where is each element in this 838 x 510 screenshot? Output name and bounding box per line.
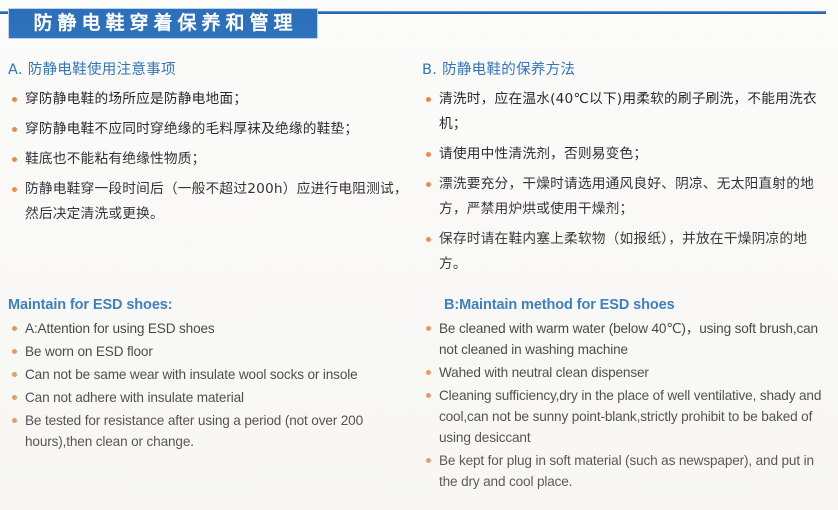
chinese-list-b: 清洗时，应在温水(40℃以下)用柔软的刷子刷洗，不能用洗衣机； 请使用中性清洗剂… [422, 87, 826, 277]
list-item: A:Attention for using ESD shoes [8, 318, 412, 339]
list-item-text: 保存时请在鞋内塞上柔软物（如报纸），并放在干燥阴凉的地方。 [439, 227, 826, 277]
page-header: 防静电鞋穿着保养和管理 [0, 0, 838, 50]
chinese-heading-b: B. 防静电鞋的保养方法 [422, 60, 826, 80]
list-item: 防静电鞋穿一段时间后（一般不超过200h）应进行电阻测试，然后决定清洗或更换。 [8, 177, 412, 227]
list-item: Can not adhere with insulate material [8, 387, 412, 408]
list-item-text: 鞋底也不能粘有绝缘性物质； [25, 147, 412, 172]
list-item: Be worn on ESD floor [8, 341, 412, 362]
list-item: 穿防静电鞋的场所应是防静电地面； [8, 87, 412, 112]
list-item: 清洗时，应在温水(40℃以下)用柔软的刷子刷洗，不能用洗衣机； [422, 87, 826, 137]
english-heading-a: Maintain for ESD shoes: [8, 295, 412, 315]
list-item: Be kept for plug in soft material (such … [422, 450, 826, 492]
title-banner: 防静电鞋穿着保养和管理 [8, 8, 318, 39]
page-title: 防静电鞋穿着保养和管理 [28, 14, 297, 33]
list-item-text: Be tested for resistance after using a p… [25, 410, 412, 452]
list-item: 穿防静电鞋不应同时穿绝缘的毛料厚袜及绝缘的鞋垫； [8, 117, 412, 142]
list-item: Be cleaned with warm water (below 40℃)，u… [422, 318, 826, 360]
list-item: Can not be same wear with insulate wool … [8, 364, 412, 385]
list-item-text: Can not adhere with insulate material [25, 387, 412, 408]
english-section-b: B:Maintain method for ESD shoes Be clean… [422, 295, 826, 494]
list-item-text: 穿防静电鞋不应同时穿绝缘的毛料厚袜及绝缘的鞋垫； [25, 117, 412, 142]
english-section-a: Maintain for ESD shoes: A:Attention for … [8, 295, 412, 454]
english-list-b: Be cleaned with warm water (below 40℃)，u… [422, 318, 826, 492]
list-item: 漂洗要充分，干燥时请选用通风良好、阴凉、无太阳直射的地方，严禁用炉烘或使用干燥剂… [422, 172, 826, 222]
list-item: 鞋底也不能粘有绝缘性物质； [8, 147, 412, 172]
list-item: Be tested for resistance after using a p… [8, 410, 412, 452]
list-item-text: 请使用中性清洗剂，否则易变色； [439, 142, 826, 167]
chinese-section-b: B. 防静电鞋的保养方法 清洗时，应在温水(40℃以下)用柔软的刷子刷洗，不能用… [422, 60, 826, 282]
list-item-text: Can not be same wear with insulate wool … [25, 364, 412, 385]
chinese-list-a: 穿防静电鞋的场所应是防静电地面； 穿防静电鞋不应同时穿绝缘的毛料厚袜及绝缘的鞋垫… [8, 87, 412, 227]
list-item: 请使用中性清洗剂，否则易变色； [422, 142, 826, 167]
list-item-text: Be kept for plug in soft material (such … [439, 450, 826, 492]
list-item-text: A:Attention for using ESD shoes [25, 318, 412, 339]
list-item-text: Wahed with neutral clean dispenser [439, 362, 826, 383]
list-item-text: 穿防静电鞋的场所应是防静电地面； [25, 87, 412, 112]
list-item-text: 清洗时，应在温水(40℃以下)用柔软的刷子刷洗，不能用洗衣机； [439, 87, 826, 137]
list-item: Cleaning sufficiency,dry in the place of… [422, 385, 826, 448]
list-item-text: 漂洗要充分，干燥时请选用通风良好、阴凉、无太阳直射的地方，严禁用炉烘或使用干燥剂… [439, 172, 826, 222]
list-item: 保存时请在鞋内塞上柔软物（如报纸），并放在干燥阴凉的地方。 [422, 227, 826, 277]
list-item-text: Be worn on ESD floor [25, 341, 412, 362]
list-item-text: Be cleaned with warm water (below 40℃)，u… [439, 318, 826, 360]
english-heading-b: B:Maintain method for ESD shoes [422, 295, 826, 315]
list-item-text: Cleaning sufficiency,dry in the place of… [439, 385, 826, 448]
list-item-text: 防静电鞋穿一段时间后（一般不超过200h）应进行电阻测试，然后决定清洗或更换。 [25, 177, 412, 227]
chinese-section-a: A. 防静电鞋使用注意事项 穿防静电鞋的场所应是防静电地面； 穿防静电鞋不应同时… [8, 60, 412, 232]
list-item: Wahed with neutral clean dispenser [422, 362, 826, 383]
english-list-a: A:Attention for using ESD shoes Be worn … [8, 318, 412, 452]
chinese-heading-a: A. 防静电鞋使用注意事项 [8, 60, 412, 80]
